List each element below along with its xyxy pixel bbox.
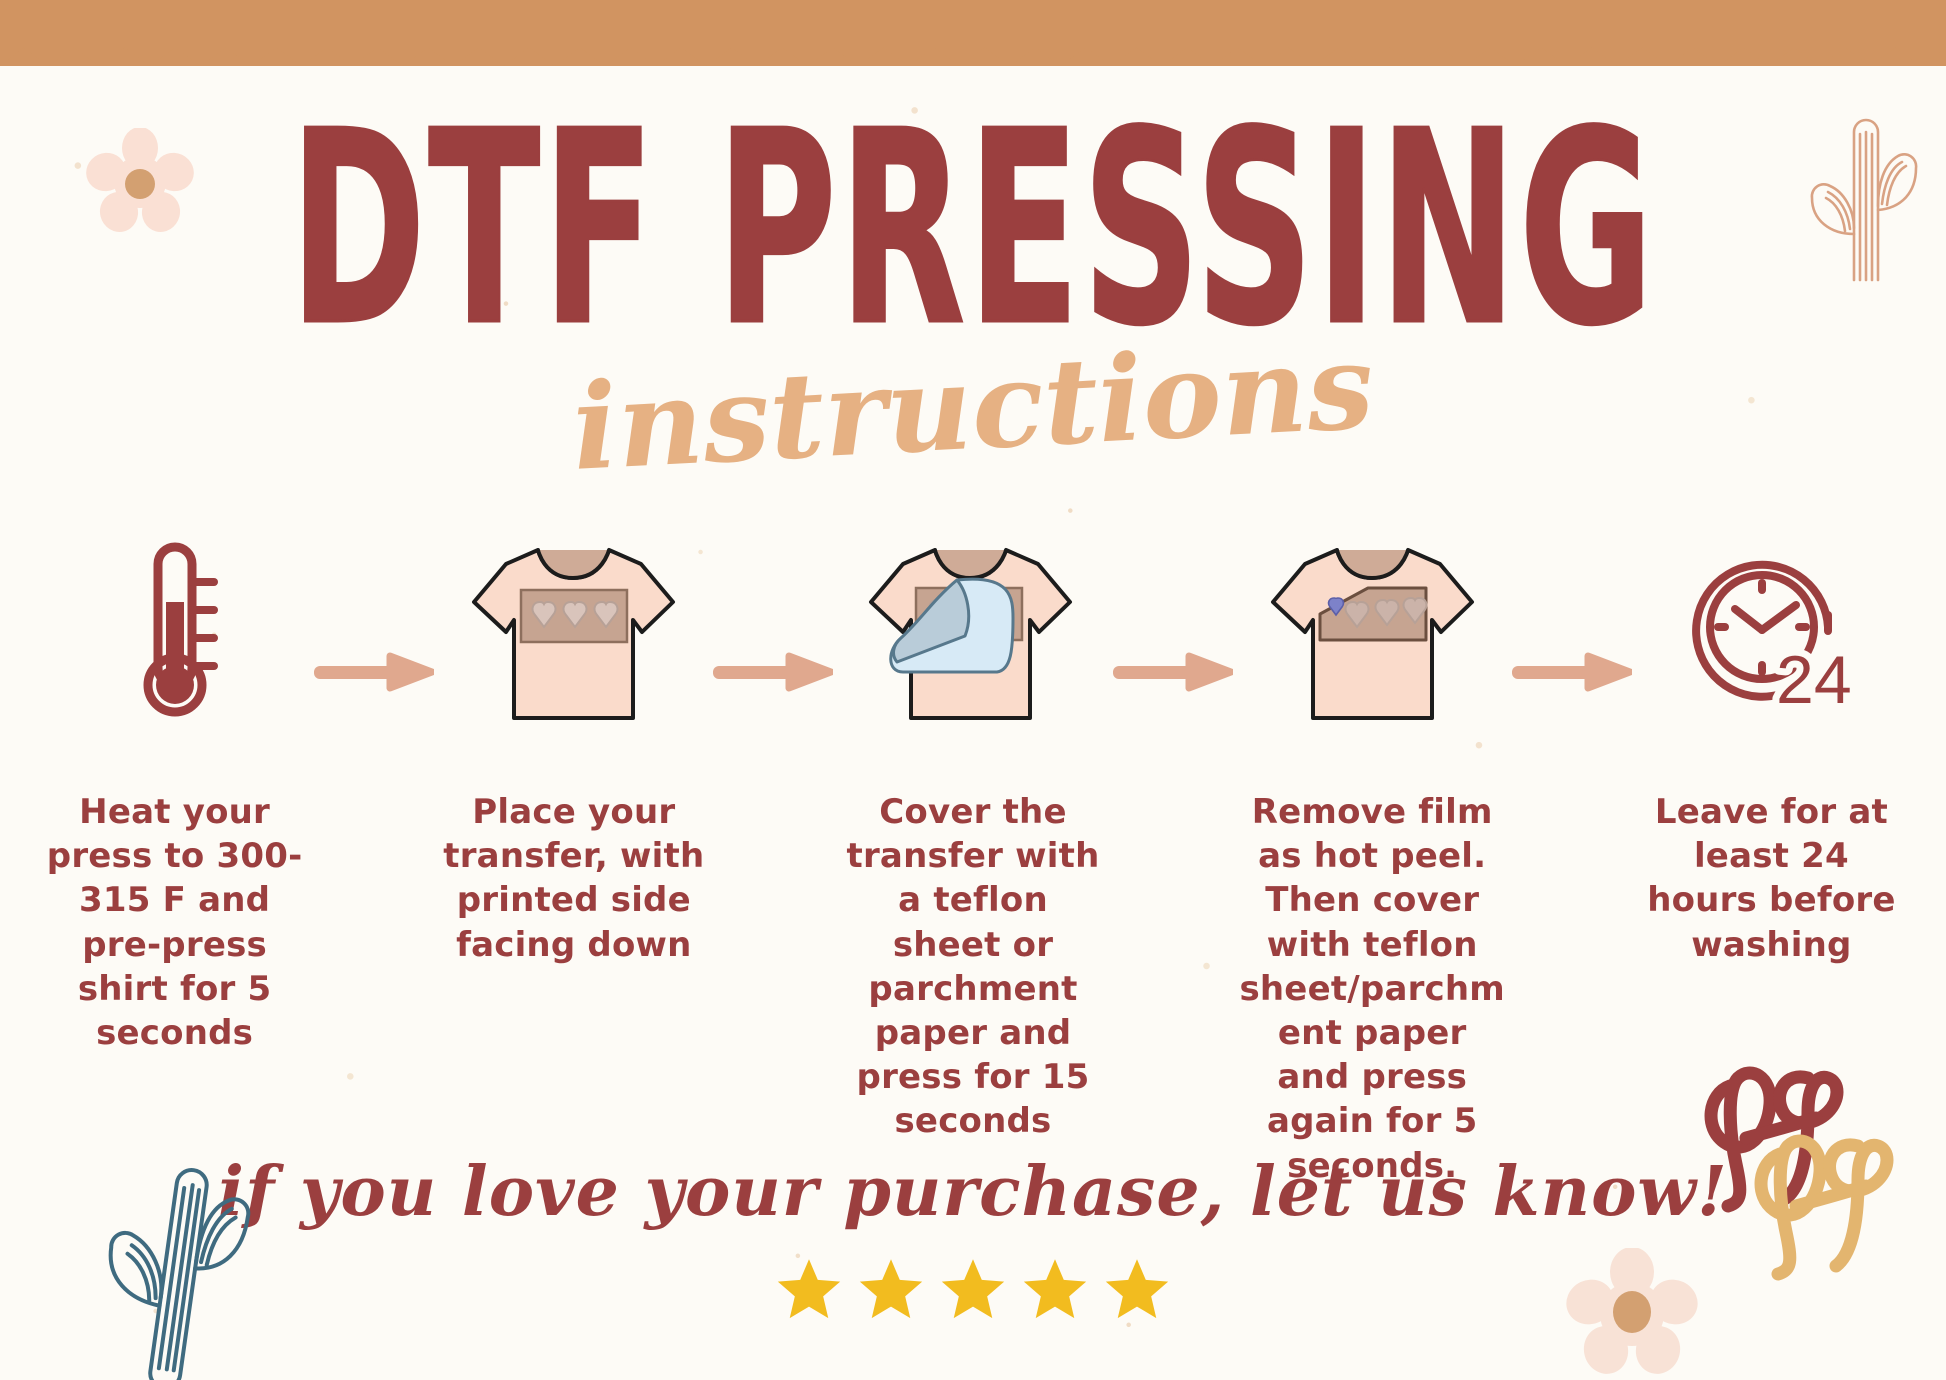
star-icon [774, 1255, 844, 1323]
step-1-caption: Heat your press to 300-315 F and pre-pre… [40, 790, 309, 1055]
page-title-wrapper: DTF PRESSING [0, 108, 1946, 297]
arrow-2 [708, 652, 838, 692]
star-rating [0, 1255, 1946, 1323]
banner-zigzag-edge [0, 0, 1946, 66]
step-4: Remove film as hot peel. Then cover with… [1238, 530, 1507, 1188]
step-3-caption: Cover the transfer with a teflon sheet o… [838, 790, 1107, 1144]
star-icon [856, 1255, 926, 1323]
steps-row: Heat your press to 300-315 F and pre-pre… [40, 530, 1906, 1188]
arrow-right-icon [314, 652, 434, 692]
star-icon [1102, 1255, 1172, 1323]
thermometer-icon [110, 530, 240, 730]
arrow-1 [309, 652, 439, 692]
step-4-caption: Remove film as hot peel. Then cover with… [1238, 790, 1507, 1188]
step-4-icon-wrap [1265, 530, 1480, 730]
page-title: DTF PRESSING [290, 108, 1656, 353]
step-2: Place your transfer, with printed side f… [439, 530, 708, 967]
step-5: 24 24 Leave for at least 24 hours before… [1637, 530, 1906, 967]
star-icon [1020, 1255, 1090, 1323]
arrow-right-icon [1512, 652, 1632, 692]
arrow-3 [1108, 652, 1238, 692]
step-5-caption: Leave for at least 24 hours before washi… [1637, 790, 1906, 967]
step-1: Heat your press to 300-315 F and pre-pre… [40, 530, 309, 1055]
arrow-right-icon [713, 652, 833, 692]
step-5-icon-wrap: 24 24 [1676, 530, 1866, 730]
step-3: Cover the transfer with a teflon sheet o… [838, 530, 1107, 1144]
poster-canvas: DTF PRESSING instructions Heat your pres… [0, 0, 1946, 1380]
arrow-right-icon [1113, 652, 1233, 692]
clock-badge-label: 24 [1776, 642, 1852, 718]
footer-note: if you love your purchase, let us know! [0, 1152, 1946, 1232]
step-2-icon-wrap [466, 530, 681, 730]
step-1-icon-wrap [110, 530, 240, 730]
tshirt-with-transfer-icon [466, 540, 681, 730]
step-2-caption: Place your transfer, with printed side f… [439, 790, 708, 967]
clock-24-icon: 24 24 [1676, 555, 1866, 730]
top-banner [0, 0, 1946, 66]
star-icon [938, 1255, 1008, 1323]
tshirt-with-teflon-sheet-icon [861, 540, 1086, 730]
tshirt-peeling-film-icon [1265, 540, 1480, 730]
arrow-4 [1507, 652, 1637, 692]
step-3-icon-wrap [861, 530, 1086, 730]
